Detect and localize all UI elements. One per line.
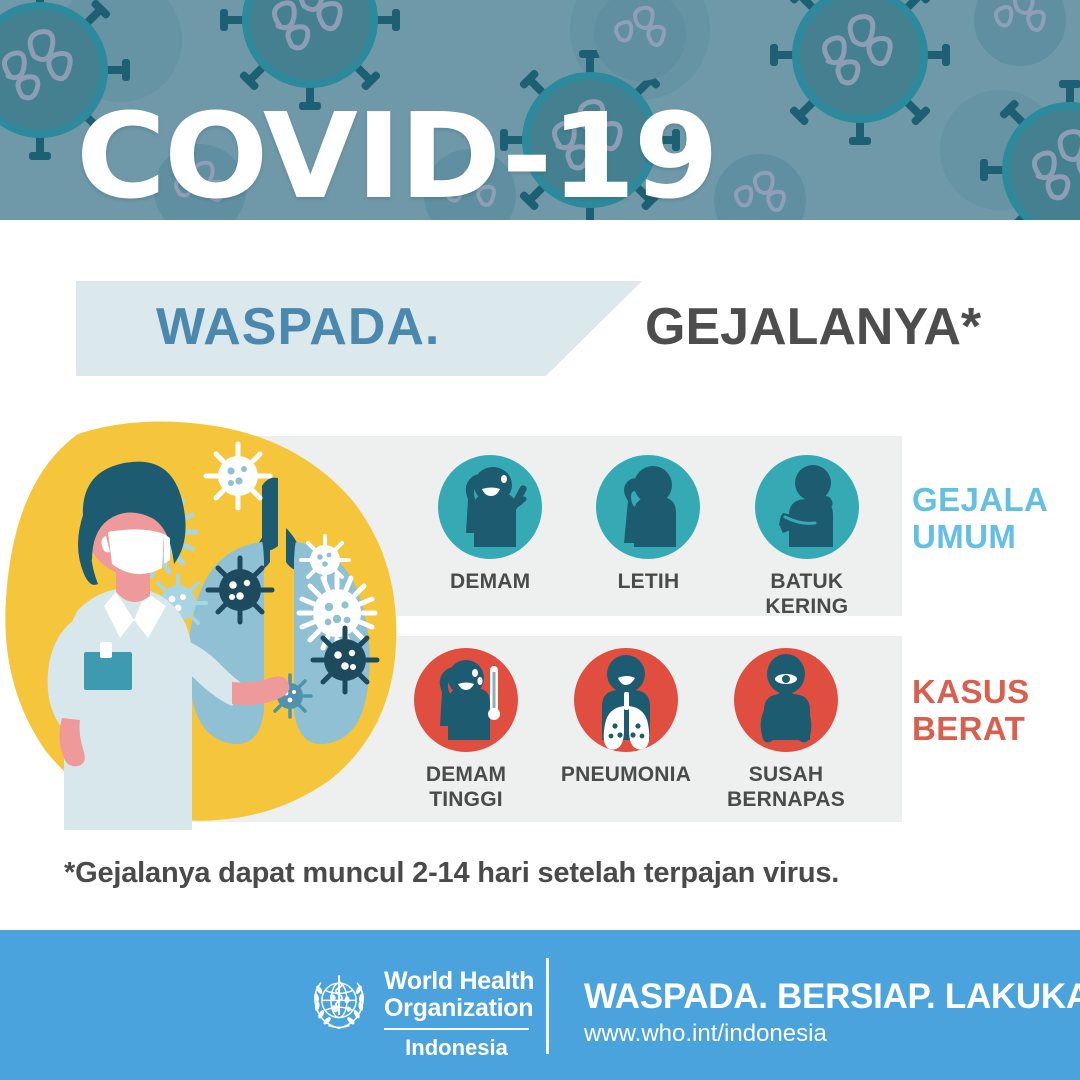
symptom-item-letih[interactable]: LETIH [573,455,723,619]
waspada-banner: WASPADA. [76,281,642,376]
difficulty-breathing-icon [734,648,838,752]
symptom-item-demam[interactable]: DEMAM [415,455,565,619]
symptom-item-susah-bernapas[interactable]: SUSAH BERNAPAS [710,648,862,812]
category-label-severe: KASUS BERAT [912,673,1030,747]
fever-thermometer-icon [438,455,542,559]
who-country-label: Indonesia [384,1035,529,1061]
common-symptoms-row: DEMAM LETIH [415,455,890,619]
footer-vertical-divider [546,958,549,1054]
symptom-item-batuk-kering[interactable]: BATUK KERING [732,455,882,619]
severe-symptoms-row: DEMAM TINGGI [390,648,890,812]
who-org-name: World Health Organization [384,968,534,1022]
footer-url-link[interactable]: www.who.int/indonesia [584,1020,827,1048]
banner-highlight-text: WASPADA. [156,297,440,357]
symptom-label: PNEUMONIA [561,762,691,787]
symptom-item-demam-tinggi[interactable]: DEMAM TINGGI [390,648,542,812]
symptom-label: DEMAM TINGGI [390,762,542,812]
footnote-text: *Gejalanya dapat muncul 2-14 hari setela… [64,857,839,890]
header-banner: COVID-19 [0,0,1080,220]
who-emblem-icon [306,970,372,1036]
dry-cough-icon [755,455,859,559]
high-fever-thermometer-icon [414,648,518,752]
symptom-label: BATUK KERING [732,569,882,619]
lungs-pneumonia-icon [574,648,678,752]
section-heading: GEJALANYA* [645,297,981,357]
symptom-label: SUSAH BERNAPAS [727,762,845,812]
page-title: COVID-19 [76,96,717,216]
fatigue-icon [596,455,700,559]
symptom-label: DEMAM [450,569,530,594]
symptom-label: LETIH [618,569,680,594]
doctor-lungs-illustration [0,420,420,830]
category-label-common: GEJALA UMUM [912,481,1048,555]
who-divider-rule [384,1028,529,1030]
who-wordmark: World Health Organization Indonesia [384,968,534,1061]
footer-slogan: WASPADA. BERSIAP. LAKUKAN. [584,977,1080,1017]
who-logo-block: World Health Organization Indonesia [306,968,534,1061]
symptom-item-pneumonia[interactable]: PNEUMONIA [550,648,702,812]
